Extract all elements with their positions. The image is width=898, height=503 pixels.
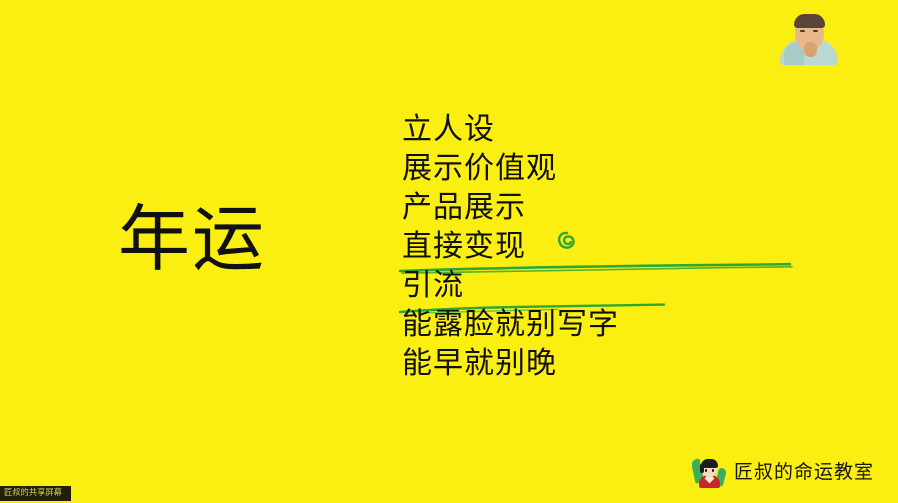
list-item-label: 引流 [402, 266, 464, 305]
list-item-label: 展示价值观 [402, 149, 557, 188]
page-title: 年运 [118, 203, 266, 275]
avatar-eye-left [705, 469, 707, 472]
list-item-label: 立人设 [402, 110, 495, 149]
list-item-label: 产品展示 [402, 188, 526, 227]
slide-canvas: 年运 立人设 展示价值观 产品展示 直接变现 引流 [0, 0, 898, 503]
list-item-highlighted: 直接变现 [402, 227, 842, 266]
webcam-eye-right [813, 30, 818, 32]
presenter-webcam-thumbnail[interactable] [778, 4, 840, 68]
list-item: 能露脸就别写字 [402, 305, 842, 344]
list-item: 产品展示 [402, 188, 842, 227]
list-item: 能早就别晚 [402, 344, 842, 383]
list-item-highlighted: 引流 [402, 266, 842, 305]
screen-share-badge: 匠叔的共享屏幕 [0, 486, 71, 501]
webcam-hand [804, 42, 817, 57]
webcam-eye-left [800, 30, 805, 32]
list-item: 立人设 [402, 110, 842, 149]
avatar [692, 455, 726, 489]
list-item-label: 直接变现 [402, 227, 526, 266]
list-item-label: 能早就别晚 [402, 344, 557, 383]
channel-name: 匠叔的命运教室 [734, 460, 874, 484]
green-circle-doodle-icon [554, 229, 580, 255]
avatar-eye-right [712, 469, 714, 472]
screen-share-label: 匠叔的共享屏幕 [4, 487, 62, 501]
content-list: 立人设 展示价值观 产品展示 直接变现 引流 能露脸就别 [402, 110, 842, 383]
avatar-hair-side [700, 464, 704, 473]
webcam-hair [794, 14, 825, 28]
channel-watermark: 匠叔的命运教室 [692, 455, 874, 489]
list-item: 展示价值观 [402, 149, 842, 188]
list-item-label: 能露脸就别写字 [402, 305, 619, 344]
